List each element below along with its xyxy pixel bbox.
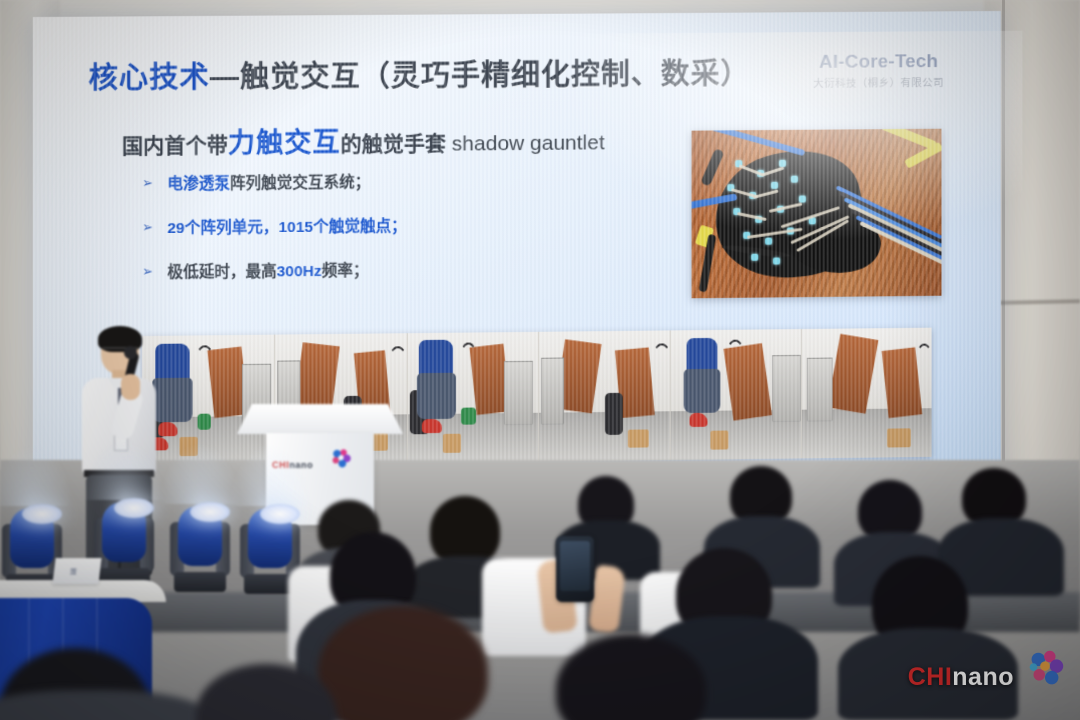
subtitle-lead: 国内首个带 xyxy=(122,134,228,158)
company-logo-subtitle: 大衍科技（桐乡）有限公司 xyxy=(792,75,965,91)
speaker-hand xyxy=(121,374,140,400)
chinano-flower-icon xyxy=(328,446,354,472)
bullet-item-2: ➢ 29个阵列单元，1015个触觉触点； xyxy=(142,214,406,238)
tactile-glove-photo xyxy=(692,129,942,299)
filmstrip-frame xyxy=(802,328,932,459)
slide-title-rest: —触觉交互（灵巧手精细化控制、数采） xyxy=(210,58,751,94)
bullet-arrow-icon: ➢ xyxy=(142,219,153,235)
slide-title: 核心技术—触觉交互（灵巧手精细化控制、数采） xyxy=(89,50,880,98)
slide-content: 核心技术—触觉交互（灵巧手精细化控制、数采） AI-Core-Tech 大衍科技… xyxy=(33,11,1001,512)
bullet-2-highlight: 29个阵列单元，1015个触觉触点； xyxy=(167,214,406,238)
bullet-item-3: ➢ 极低延时，最高300Hz频率； xyxy=(142,258,406,283)
presentation-photo: 核心技术—触觉交互（灵巧手精细化控制、数采） AI-Core-Tech 大衍科技… xyxy=(0,0,1080,720)
watermark-chi: CHI xyxy=(908,663,953,691)
filmstrip-frame xyxy=(539,330,670,461)
company-logo-name: AI-Core-Tech xyxy=(792,51,965,74)
projection-screen: 核心技术—触觉交互（灵巧手精细化控制、数采） AI-Core-Tech 大衍科技… xyxy=(33,11,1001,512)
slide-title-highlight: 核心技术 xyxy=(89,62,210,95)
bullet-1-rest: 阵列触觉交互系统； xyxy=(230,174,370,192)
bullet-list: ➢ 电渗透泵阵列触觉交互系统； ➢ 29个阵列单元，1015个触觉触点； ➢ 极… xyxy=(142,170,406,305)
stage-light xyxy=(92,492,156,588)
bullet-1-highlight: 电渗透泵 xyxy=(167,175,230,193)
bullet-3-rest2: 频率； xyxy=(322,262,369,279)
bullet-item-1: ➢ 电渗透泵阵列触觉交互系统； xyxy=(142,170,406,194)
filmstrip-frame xyxy=(671,329,802,460)
stage-light xyxy=(168,496,232,592)
company-logo: AI-Core-Tech 大衍科技（桐乡）有限公司 xyxy=(792,51,965,91)
podium-top xyxy=(237,404,403,434)
wall-seam xyxy=(1002,0,1005,470)
watermark-nano: nano xyxy=(952,663,1014,691)
filmstrip-frame xyxy=(408,332,540,464)
bullet-arrow-icon: ➢ xyxy=(142,175,153,191)
bullet-3-rest: 极低延时，最高 xyxy=(167,263,276,281)
subtitle-english-text: shadow gauntlet xyxy=(452,131,605,155)
microphone-head xyxy=(124,346,137,359)
subtitle-mid: 的触觉手套 xyxy=(341,133,446,157)
subtitle-emphasis: 力触交互 xyxy=(228,127,341,158)
smartphone-screen xyxy=(560,541,590,591)
bullet-arrow-icon: ➢ xyxy=(142,264,153,280)
watermark-text: CHInano xyxy=(908,663,1014,692)
slide-subtitle: 国内首个带力触交互的触觉手套 shadow gauntlet xyxy=(122,118,605,161)
table-name-card: 签 xyxy=(52,558,101,584)
table-name-card-text: 签 xyxy=(69,567,77,577)
chinano-watermark: CHInano xyxy=(908,646,1068,708)
bullet-3-highlight: 300Hz xyxy=(277,263,322,280)
smartphone-recording xyxy=(556,536,594,602)
chinano-flower-watermark-icon xyxy=(1022,646,1068,692)
